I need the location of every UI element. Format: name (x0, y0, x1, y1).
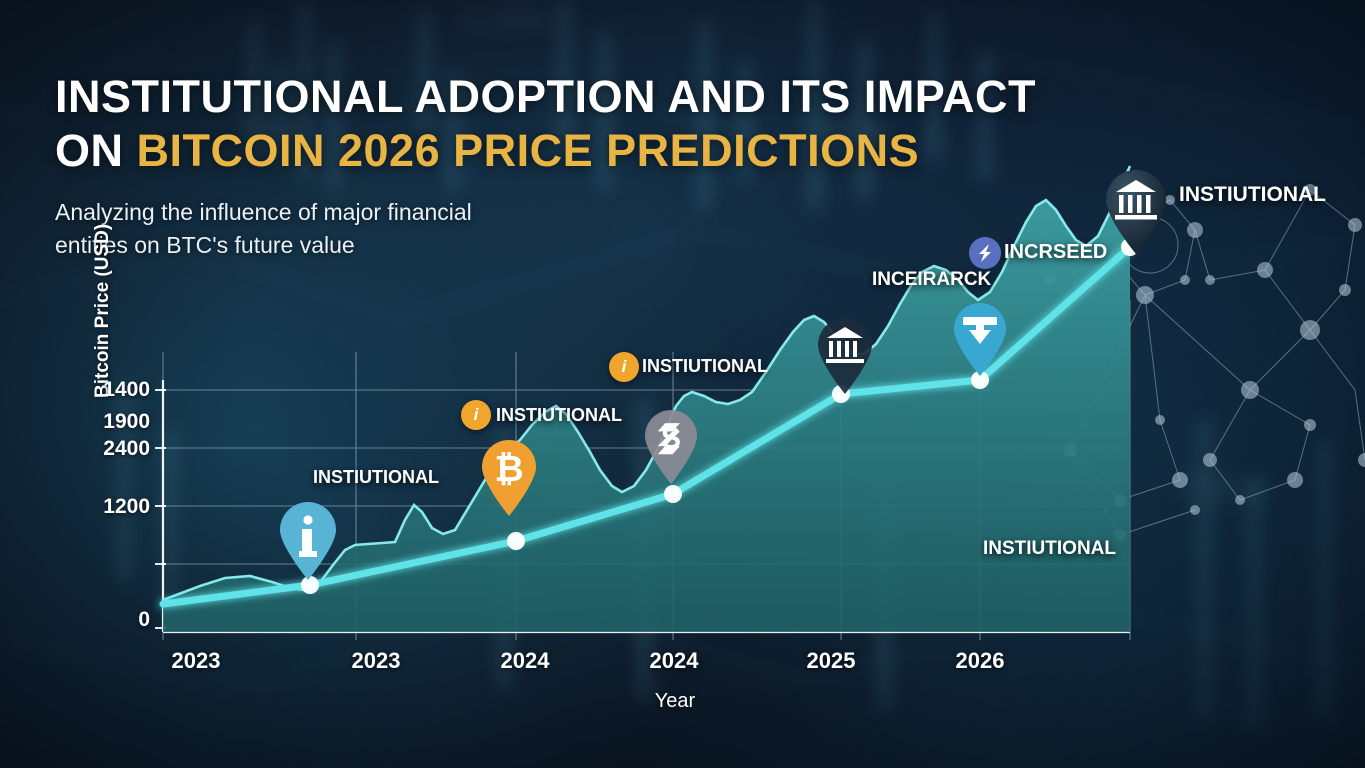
annotation-label-4: INCEIRARCK (872, 269, 991, 291)
x-tick-4: 2025 (807, 648, 856, 674)
x-tick-3: 2024 (650, 648, 699, 674)
incrseed-badge-icon[interactable] (968, 236, 1002, 270)
bank-icon[interactable] (814, 314, 876, 396)
info-icon[interactable] (276, 498, 340, 582)
infographic-canvas: 1.22423.3718.3 (0, 0, 1365, 768)
tether-icon[interactable] (951, 300, 1009, 378)
chart: Bitcoin Price (USD) 1400 1900 2400 1200 … (0, 0, 1365, 768)
x-axis-title: Year (655, 690, 695, 713)
annotation-label-6: INSTIUTIONAL (1179, 183, 1326, 207)
marker-pin-tether[interactable] (951, 300, 1009, 383)
annotation-label-5: INCRSEED (1004, 241, 1107, 264)
marker-pin-bitcoin[interactable]: ₿ (478, 436, 540, 523)
x-tick-5: 2026 (956, 648, 1005, 674)
marker-pin-info[interactable] (276, 498, 340, 587)
x-tick-0: 2023 (172, 648, 221, 674)
x-tick-1: 2023 (352, 648, 401, 674)
marker-pin-dollar[interactable]: S (641, 406, 701, 491)
dollar-icon[interactable]: S (641, 406, 701, 486)
svg-text:S: S (661, 422, 681, 455)
x-tick-2: 2024 (501, 648, 550, 674)
svg-text:₿: ₿ (494, 448, 523, 489)
annotation-label-7: INSTIUTIONAL (983, 538, 1116, 560)
info-badge-icon-1[interactable]: i (461, 400, 491, 430)
annotation-label-1: INSTIUTIONAL (313, 467, 439, 488)
bank-icon[interactable] (1102, 166, 1170, 256)
info-badge-icon-2[interactable]: i (609, 352, 639, 382)
bitcoin-icon[interactable]: ₿ (478, 436, 540, 518)
marker-pin-bank-mid[interactable] (814, 314, 876, 401)
axis-ticks (155, 390, 166, 628)
annotation-label-2: INSTIUTIONAL (496, 405, 622, 426)
marker-pin-bank-top[interactable] (1102, 166, 1170, 261)
annotation-label-3: INSTIUTIONAL (642, 356, 768, 377)
